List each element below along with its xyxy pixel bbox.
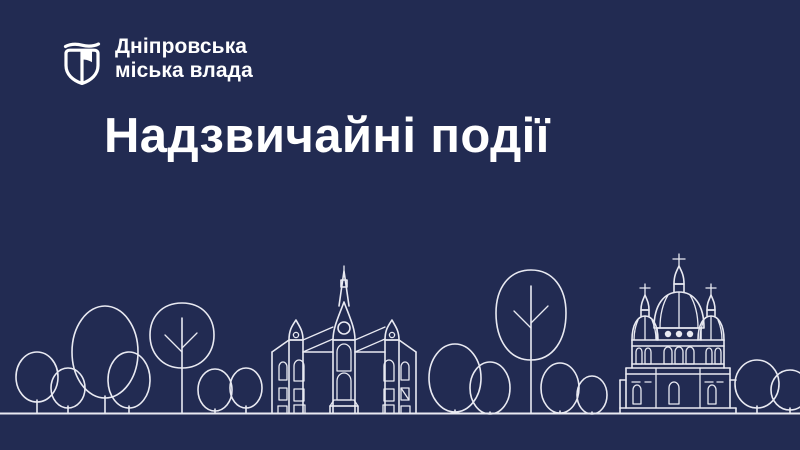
page-title: Надзвичайні події (104, 108, 550, 164)
logo[interactable]: Дніпровська міська влада (62, 33, 253, 85)
logo-line-2: міська влада (115, 59, 253, 83)
tree-oval-mid-2 (470, 362, 510, 414)
tree-oval-right (541, 363, 579, 413)
tree-pair-far-right (735, 360, 800, 413)
tree-round-pair-left (198, 368, 262, 413)
banner: Дніпровська міська влада Надзвичайні под… (0, 0, 800, 450)
city-hall-building (272, 266, 416, 413)
city-skyline-illustration (0, 240, 800, 450)
tree-tall-oval (72, 306, 138, 413)
tree-small-left-2 (51, 368, 85, 413)
orthodox-cathedral (620, 254, 736, 413)
shield-emblem-icon (62, 33, 102, 85)
logo-line-1: Дніпровська (115, 35, 253, 59)
logo-text: Дніпровська міська влада (115, 35, 253, 82)
tree-small-right (577, 376, 607, 414)
tree-branching-left (150, 303, 214, 413)
tree-tall-branching-center (496, 270, 566, 413)
